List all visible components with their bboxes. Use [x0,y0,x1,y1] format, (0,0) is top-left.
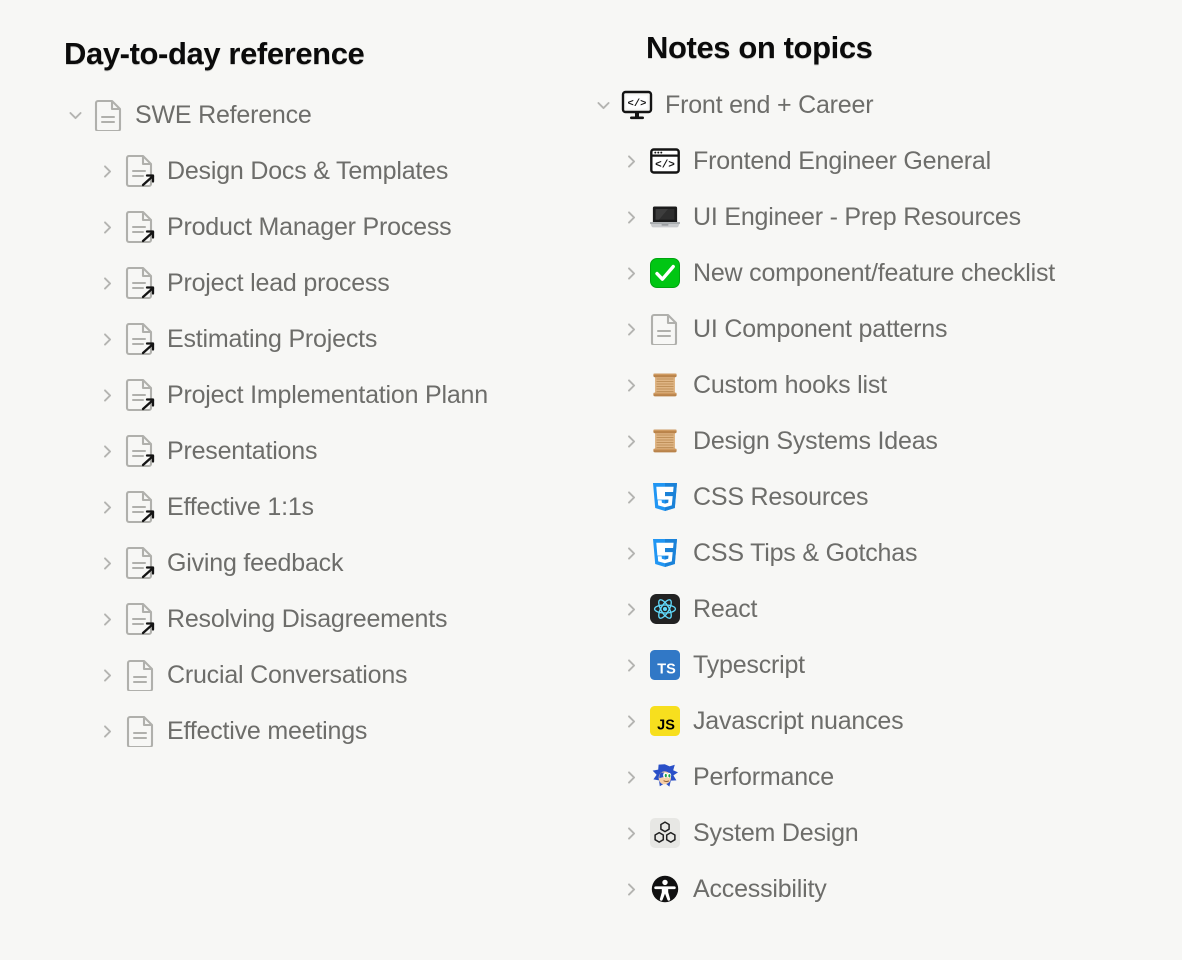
scroll-icon [648,368,682,402]
tree-item[interactable]: New component/feature checklist [590,245,1170,301]
tree-item-label: Effective meetings [167,719,367,744]
document-link-icon [125,210,157,244]
tree-item[interactable]: Custom hooks list [590,357,1170,413]
chevron-right-icon[interactable] [94,718,120,744]
document-icon [94,99,124,131]
scroll-icon [648,424,682,458]
css3-logo-icon [652,538,678,568]
chevron-right-icon[interactable] [618,764,644,790]
react-logo-icon [650,594,680,624]
chevron-right-icon[interactable] [618,428,644,454]
tree-item-label: New component/feature checklist [693,261,1055,286]
tree-item-label: Front end + Career [665,93,873,118]
chevron-right-icon[interactable] [94,550,120,576]
tree-item-label: Product Manager Process [167,215,451,240]
tree-item[interactable]: Presentations [62,423,582,479]
chevron-down-icon[interactable] [590,92,616,118]
laptop-icon [649,204,681,230]
react-logo-icon [648,592,682,626]
chevron-right-icon[interactable] [618,148,644,174]
tree-item-label: Frontend Engineer General [693,149,991,174]
chevron-right-icon[interactable] [618,652,644,678]
document-link-icon [124,602,158,636]
chevron-right-icon[interactable] [618,708,644,734]
column-notes-on-topics: Notes on topics </> Front end + Career <… [590,0,1170,917]
tree-item[interactable]: CSS Tips & Gotchas [590,525,1170,581]
tree-item[interactable]: UI Engineer - Prep Resources [590,189,1170,245]
tree-item-label: System Design [693,821,859,846]
tree-item[interactable]: JS Javascript nuances [590,693,1170,749]
tree-item-label: Accessibility [693,877,827,902]
desktop-code-icon: </> [621,90,653,120]
check-mark-icon [650,258,680,288]
tree-item[interactable]: Estimating Projects [62,311,582,367]
document-icon [124,658,158,692]
chevron-right-icon[interactable] [94,438,120,464]
tree-item-label: Performance [693,765,834,790]
typescript-logo-icon: TS [650,650,680,680]
tree-item[interactable]: System Design [590,805,1170,861]
chevron-right-icon[interactable] [618,204,644,230]
tree: </> Front end + Career </> Frontend Engi… [590,77,1170,917]
svg-text:TS: TS [657,662,676,678]
laptop-icon [648,200,682,234]
chevron-right-icon[interactable] [618,372,644,398]
chevron-right-icon[interactable] [94,326,120,352]
document-icon [648,312,682,346]
chevron-right-icon[interactable] [94,382,120,408]
hexagons-icon [648,816,682,850]
tree-item-label: Typescript [693,653,805,678]
tree-item[interactable]: Giving feedback [62,535,582,591]
column-title: Notes on topics [646,32,1170,63]
javascript-logo-icon: JS [650,706,680,736]
tree-item[interactable]: UI Component patterns [590,301,1170,357]
document-link-icon [125,378,157,412]
chevron-right-icon[interactable] [618,260,644,286]
tree-item-label: UI Engineer - Prep Resources [693,205,1021,230]
tree-item[interactable]: Resolving Disagreements [62,591,582,647]
chevron-down-icon[interactable] [62,102,88,128]
tree-item[interactable]: Accessibility [590,861,1170,917]
scroll-icon [650,370,680,400]
tree-item[interactable]: Crucial Conversations [62,647,582,703]
chevron-right-icon[interactable] [618,316,644,342]
accessibility-icon [648,872,682,906]
tree-item[interactable]: React [590,581,1170,637]
document-link-icon [124,154,158,188]
chevron-right-icon[interactable] [618,540,644,566]
chevron-right-icon[interactable] [618,484,644,510]
hexagons-icon [650,818,680,848]
svg-text:</>: </> [655,159,675,171]
css3-logo-icon [652,482,678,512]
tree-item-label: Project Implementation Plann [167,383,488,408]
svg-text:</>: </> [628,98,647,110]
chevron-right-icon[interactable] [618,876,644,902]
css3-logo-icon [648,536,682,570]
chevron-right-icon[interactable] [618,820,644,846]
tree-item-label: UI Component patterns [693,317,947,342]
javascript-logo-icon: JS [648,704,682,738]
document-link-icon [125,154,157,188]
chevron-right-icon[interactable] [618,596,644,622]
document-icon [126,715,156,747]
tree-item[interactable]: Product Manager Process [62,199,582,255]
tree-item-label: SWE Reference [135,103,312,128]
document-icon [126,659,156,691]
tree-item-label: Design Docs & Templates [167,159,448,184]
tree-item-label: CSS Tips & Gotchas [693,541,917,566]
typescript-logo-icon: TS [648,648,682,682]
tree-root-item[interactable]: SWE Reference [62,87,582,143]
tree-root-item[interactable]: </> Front end + Career [590,77,1170,133]
tree-item-label: Crucial Conversations [167,663,407,688]
document-link-icon [125,490,157,524]
browser-code-icon: </> [648,144,682,178]
tree: SWE Reference Design Docs & Templates [62,87,582,759]
chevron-right-icon[interactable] [94,214,120,240]
document-link-icon [125,546,157,580]
sonic-hedgehog-icon [650,762,680,792]
css3-logo-icon [648,480,682,514]
document-link-icon [124,322,158,356]
svg-text:JS: JS [657,718,675,734]
tree-item[interactable]: TS Typescript [590,637,1170,693]
document-link-icon [125,434,157,468]
tree-item[interactable]: Effective 1:1s [62,479,582,535]
tree-item-label: Custom hooks list [693,373,887,398]
chevron-right-icon[interactable] [94,606,120,632]
document-link-icon [124,210,158,244]
document-link-icon [125,602,157,636]
tree-item-label: Design Systems Ideas [693,429,938,454]
document-link-icon [124,490,158,524]
scroll-icon [650,426,680,456]
document-icon [92,98,126,132]
check-mark-icon [648,256,682,290]
document-icon [124,714,158,748]
tree-item-label: Effective 1:1s [167,495,314,520]
tree-item-label: Project lead process [167,271,390,296]
tree-item-label: CSS Resources [693,485,868,510]
tree-item[interactable]: CSS Resources [590,469,1170,525]
tree-item-label: Javascript nuances [693,709,903,734]
document-link-icon [125,266,157,300]
tree-item[interactable]: </> Frontend Engineer General [590,133,1170,189]
accessibility-icon [650,874,680,904]
document-link-icon [124,266,158,300]
sonic-hedgehog-icon [648,760,682,794]
chevron-right-icon[interactable] [94,158,120,184]
document-icon [650,313,680,345]
tree-item[interactable]: Project Implementation Plann [62,367,582,423]
column-day-to-day-reference: Day-to-day reference SWE Reference Desig… [62,0,582,759]
document-link-icon [124,378,158,412]
column-title: Day-to-day reference [64,38,582,69]
tree-item-label: Resolving Disagreements [167,607,447,632]
tree-item[interactable]: Performance [590,749,1170,805]
browser-code-icon: </> [650,147,680,175]
tree-item-label: Giving feedback [167,551,343,576]
document-link-icon [124,546,158,580]
tree-item-label: Presentations [167,439,317,464]
tree-item[interactable]: Design Docs & Templates [62,143,582,199]
chevron-right-icon[interactable] [94,494,120,520]
notes-tree-page: Day-to-day reference SWE Reference Desig… [0,0,1182,960]
tree-item-label: React [693,597,757,622]
chevron-right-icon[interactable] [94,662,120,688]
tree-item-label: Estimating Projects [167,327,377,352]
desktop-code-icon: </> [620,88,654,122]
tree-item[interactable]: Project lead process [62,255,582,311]
chevron-right-icon[interactable] [94,270,120,296]
tree-item[interactable]: Design Systems Ideas [590,413,1170,469]
tree-item[interactable]: Effective meetings [62,703,582,759]
document-link-icon [125,322,157,356]
document-link-icon [124,434,158,468]
